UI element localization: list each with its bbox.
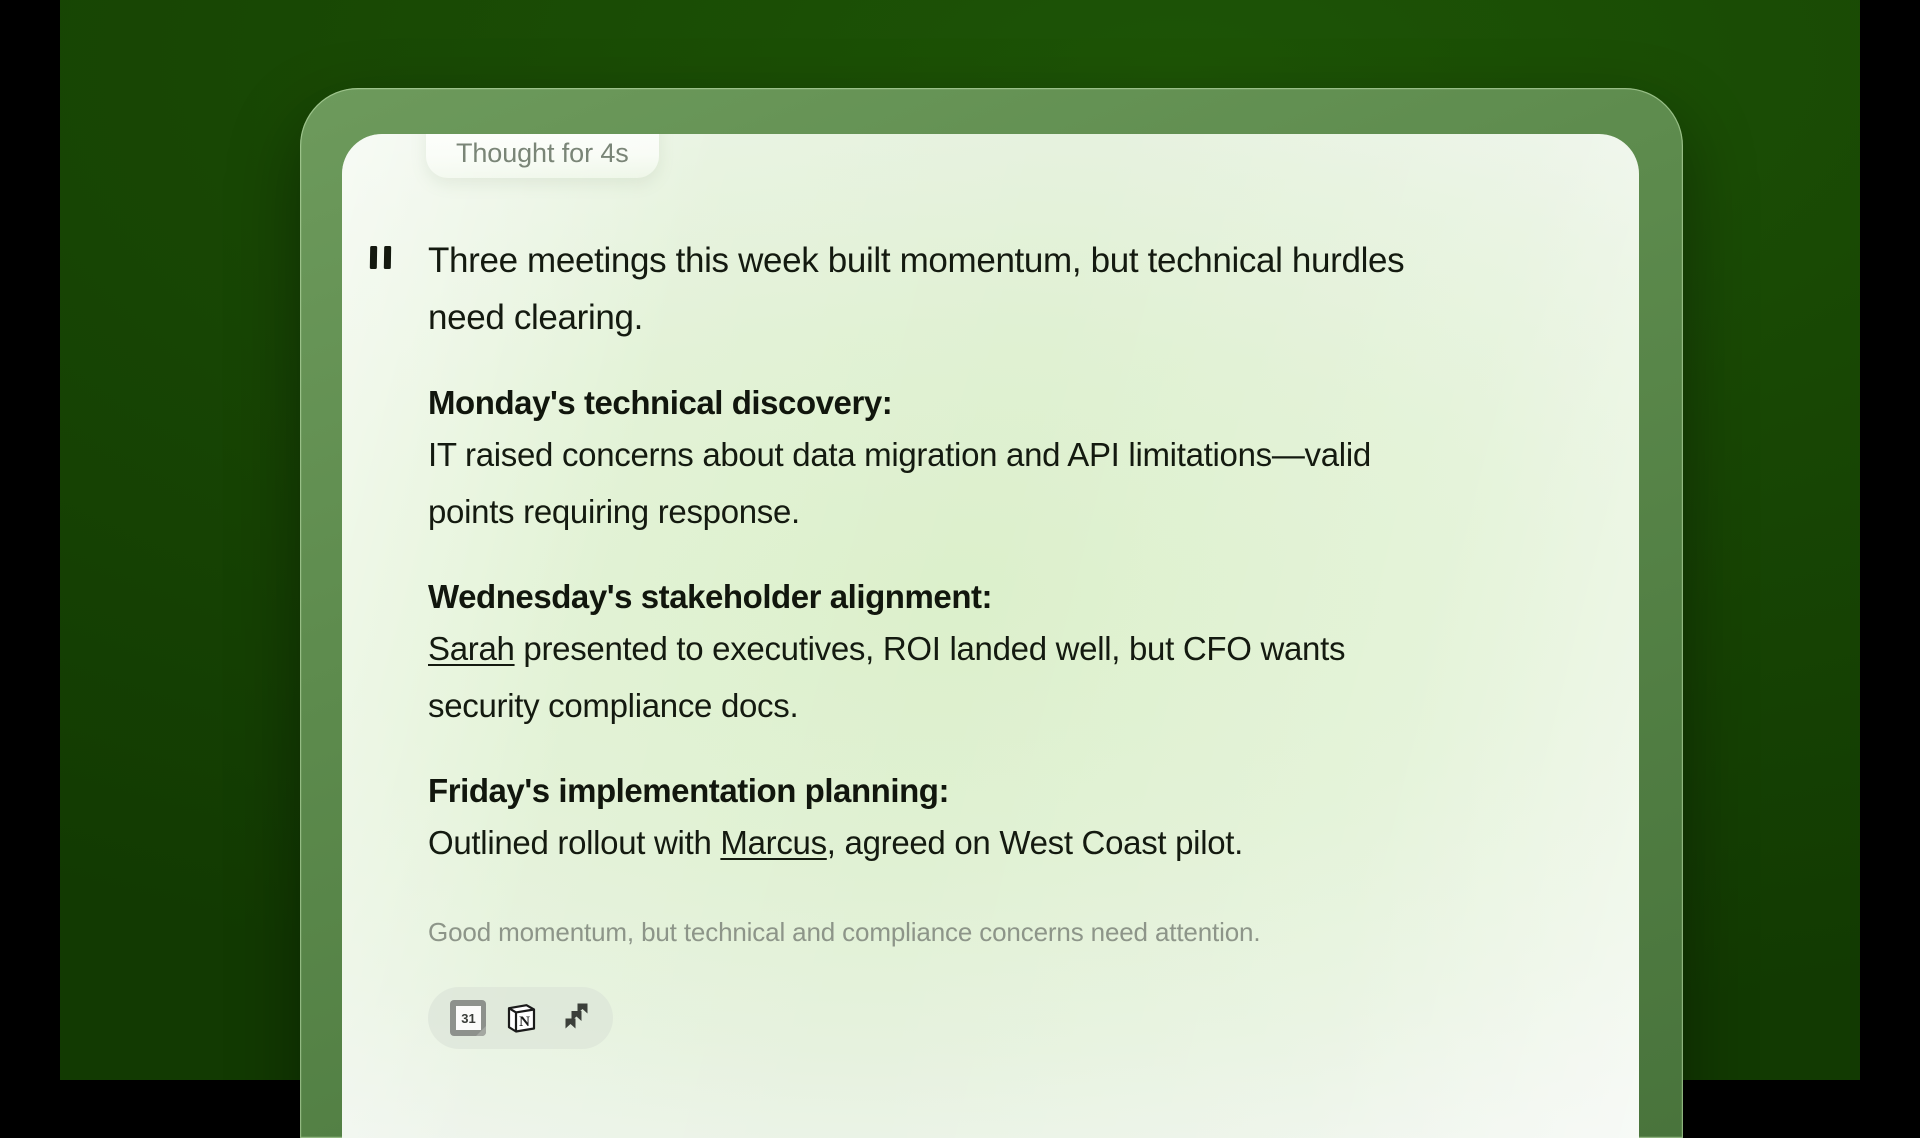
calendar-day-number: 31 — [456, 1006, 481, 1030]
lead-quote-row: Three meetings this week built momentum,… — [370, 232, 1549, 346]
device-frame: Thought for 4s Three meetings this week … — [300, 88, 1683, 1138]
lead-paragraph: Three meetings this week built momentum,… — [428, 232, 1428, 346]
block-text: Sarah presented to executives, ROI lande… — [370, 620, 1390, 734]
closing-summary-text: Good momentum, but technical and complia… — [370, 913, 1549, 951]
google-calendar-icon[interactable]: 31 — [450, 1000, 486, 1036]
message-body: Three meetings this week built momentum,… — [342, 134, 1639, 1049]
summary-block: Wednesday's stakeholder alignment: Sarah… — [370, 573, 1549, 734]
block-text-before: Outlined rollout with — [428, 824, 720, 861]
svg-text:N: N — [519, 1014, 530, 1030]
green-canvas: Thought for 4s Three meetings this week … — [60, 0, 1860, 1080]
quote-mark-icon — [370, 232, 428, 269]
block-text-after: presented to executives, ROI landed well… — [428, 630, 1345, 724]
notion-icon[interactable]: N — [503, 1000, 539, 1036]
integration-tray: 31 N — [428, 987, 613, 1049]
screen-stage: Thought for 4s Three meetings this week … — [0, 0, 1920, 1080]
block-text-before: IT raised concerns about data migration … — [428, 436, 1371, 530]
summary-block: Monday's technical discovery: IT raised … — [370, 379, 1549, 540]
message-card: Thought for 4s Three meetings this week … — [342, 134, 1639, 1138]
mention-link[interactable]: Sarah — [428, 630, 515, 667]
jira-icon[interactable] — [556, 1000, 592, 1036]
summary-block: Friday's implementation planning: Outlin… — [370, 767, 1549, 871]
block-title: Monday's technical discovery: — [370, 379, 1549, 426]
block-text: Outlined rollout with Marcus, agreed on … — [370, 814, 1390, 871]
block-text-after: , agreed on West Coast pilot. — [827, 824, 1243, 861]
block-title: Wednesday's stakeholder alignment: — [370, 573, 1549, 620]
block-text: IT raised concerns about data migration … — [370, 426, 1390, 540]
block-title: Friday's implementation planning: — [370, 767, 1549, 814]
mention-link[interactable]: Marcus — [720, 824, 826, 861]
